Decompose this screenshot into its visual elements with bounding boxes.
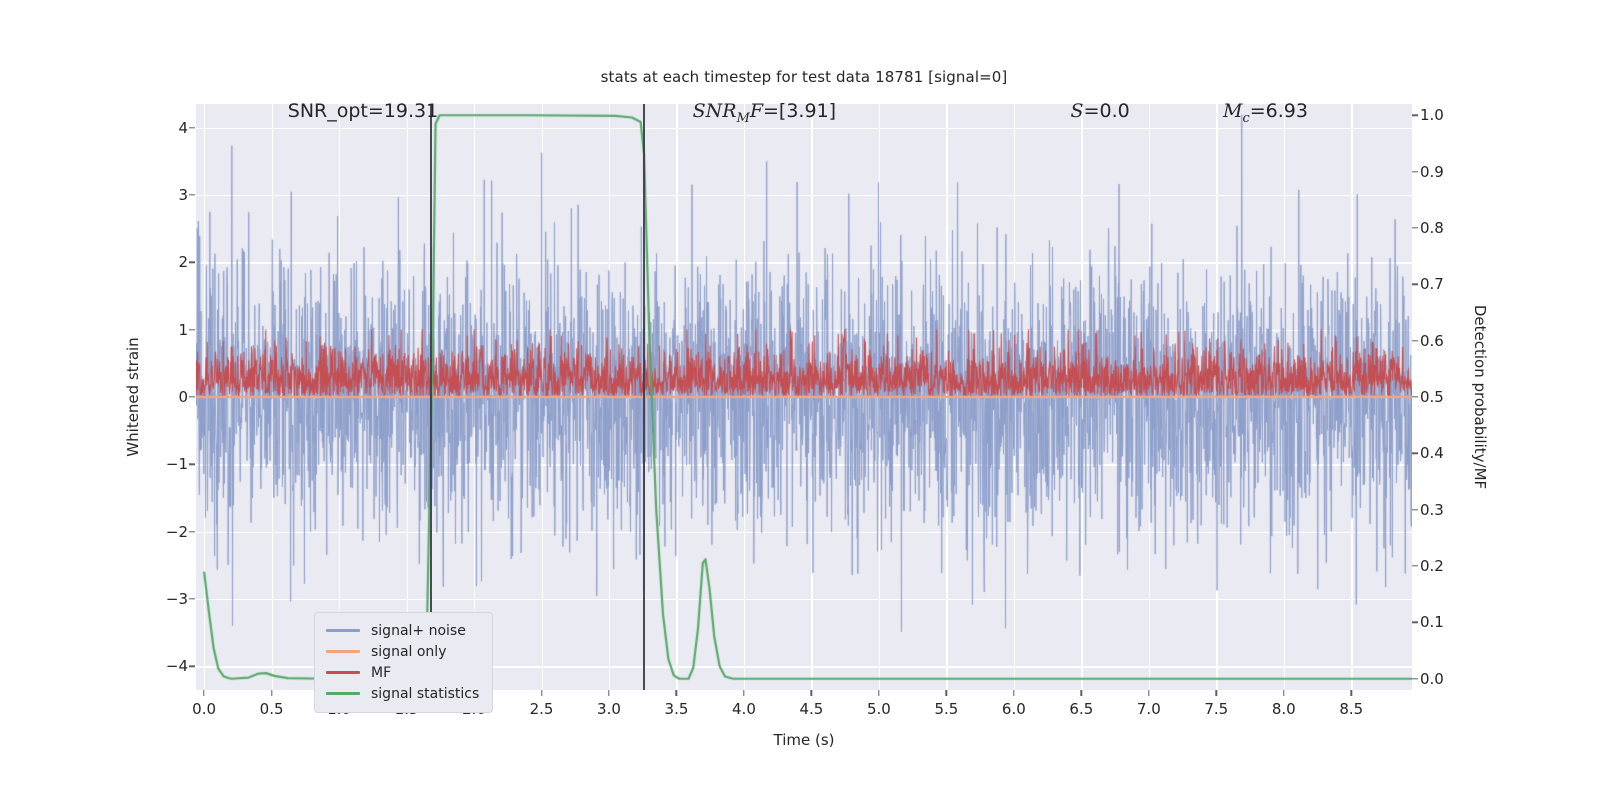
event-marker-line <box>430 104 432 690</box>
y-axis-label-right: Detection probability/MF <box>1471 305 1489 489</box>
x-tick-label: 0.0 <box>192 700 216 718</box>
legend-item[interactable]: signal+ noise <box>326 620 479 641</box>
annotation-mc-symbol: Mc <box>1223 100 1250 122</box>
x-tick-label: 7.5 <box>1204 700 1228 718</box>
legend[interactable]: signal+ noisesignal onlyMFsignal statist… <box>314 612 493 713</box>
annotation-mc: Mc=6.93 <box>1223 100 1308 126</box>
y-tick-mark-right <box>1412 396 1418 397</box>
y-tick-label-left: −3 <box>68 590 188 608</box>
legend-item-label: signal statistics <box>371 686 479 702</box>
x-tick-mark <box>946 690 947 696</box>
legend-item[interactable]: signal only <box>326 641 479 662</box>
y-tick-mark-left <box>189 531 195 532</box>
x-tick-mark <box>271 690 272 696</box>
x-tick-mark <box>1216 690 1217 696</box>
x-tick-mark <box>1283 690 1284 696</box>
y-tick-label-right: 0.0 <box>1420 670 1540 688</box>
legend-swatch-icon <box>326 671 360 673</box>
x-tick-label: 5.0 <box>867 700 891 718</box>
x-tick-mark <box>676 690 677 696</box>
x-axis-label: Time (s) <box>774 731 835 749</box>
x-tick-mark <box>1148 690 1149 696</box>
x-tick-label: 2.5 <box>530 700 554 718</box>
x-tick-label: 8.0 <box>1272 700 1296 718</box>
y-tick-label-right: 0.1 <box>1420 613 1540 631</box>
x-tick-label: 4.0 <box>732 700 756 718</box>
y-tick-label-left: 2 <box>68 253 188 271</box>
y-tick-mark-right <box>1412 171 1418 172</box>
y-tick-mark-right <box>1412 622 1418 623</box>
y-tick-mark-left <box>189 194 195 195</box>
x-tick-label: 6.5 <box>1069 700 1093 718</box>
series-signal-statistics <box>196 104 1412 690</box>
page-title: stats at each timestep for test data 187… <box>196 68 1412 86</box>
figure-canvas: stats at each timestep for test data 187… <box>0 0 1600 800</box>
legend-swatch-icon <box>326 692 360 694</box>
x-tick-label: 5.5 <box>934 700 958 718</box>
legend-swatch-icon <box>326 650 360 652</box>
y-tick-label-right: 0.9 <box>1420 163 1540 181</box>
annotation-snr-mf-value: =[3.91] <box>763 100 836 122</box>
x-tick-mark <box>743 690 744 696</box>
y-tick-mark-left <box>189 329 195 330</box>
y-tick-label-right: 1.0 <box>1420 106 1540 124</box>
y-tick-label-left: −1 <box>68 455 188 473</box>
legend-item[interactable]: MF <box>326 662 479 683</box>
x-tick-mark <box>1081 690 1082 696</box>
plot-area <box>196 104 1412 690</box>
legend-item-label: signal+ noise <box>371 623 466 639</box>
x-tick-mark <box>203 690 204 696</box>
x-tick-mark <box>608 690 609 696</box>
x-tick-mark <box>811 690 812 696</box>
y-tick-label-right: 0.7 <box>1420 275 1540 293</box>
annotation-snr-opt: SNR_opt=19.31 <box>288 100 438 122</box>
y-tick-mark-right <box>1412 509 1418 510</box>
y-tick-label-right: 0.2 <box>1420 557 1540 575</box>
x-tick-mark <box>1351 690 1352 696</box>
y-axis-label-left: Whitened strain <box>124 337 142 456</box>
x-tick-label: 8.5 <box>1339 700 1363 718</box>
y-tick-mark-left <box>189 464 195 465</box>
y-tick-mark-right <box>1412 284 1418 285</box>
annotation-mc-value: =6.93 <box>1250 100 1308 122</box>
legend-item-label: MF <box>371 665 391 681</box>
x-tick-label: 7.0 <box>1137 700 1161 718</box>
y-tick-label-left: 4 <box>68 119 188 137</box>
y-tick-mark-right <box>1412 340 1418 341</box>
x-tick-mark <box>1013 690 1014 696</box>
y-tick-mark-left <box>189 262 195 263</box>
y-tick-label-left: −4 <box>68 657 188 675</box>
legend-swatch-icon <box>326 629 360 631</box>
x-tick-label: 6.0 <box>1002 700 1026 718</box>
y-tick-label-right: 0.3 <box>1420 501 1540 519</box>
x-tick-label: 3.0 <box>597 700 621 718</box>
x-tick-label: 4.5 <box>799 700 823 718</box>
y-tick-label-left: 1 <box>68 321 188 339</box>
annotation-s: S=0.0 <box>1071 100 1130 122</box>
y-tick-mark-right <box>1412 227 1418 228</box>
y-tick-mark-right <box>1412 115 1418 116</box>
y-tick-mark-right <box>1412 678 1418 679</box>
y-tick-mark-right <box>1412 565 1418 566</box>
y-tick-label-left: 3 <box>68 186 188 204</box>
y-tick-mark-left <box>189 666 195 667</box>
legend-item-label: signal only <box>371 644 446 660</box>
legend-item[interactable]: signal statistics <box>326 683 479 704</box>
x-tick-label: 0.5 <box>260 700 284 718</box>
y-tick-label-right: 0.8 <box>1420 219 1540 237</box>
y-tick-mark-left <box>189 127 195 128</box>
x-tick-mark <box>878 690 879 696</box>
y-tick-mark-right <box>1412 453 1418 454</box>
y-tick-mark-left <box>189 598 195 599</box>
annotation-snr-mf: SNRMF=[3.91] <box>693 100 836 126</box>
event-marker-line <box>643 104 645 690</box>
y-tick-mark-left <box>189 396 195 397</box>
annotation-s-value: =0.0 <box>1084 100 1130 122</box>
annotation-snr-mf-symbol: SNRMF <box>693 100 763 122</box>
annotation-s-symbol: S <box>1071 100 1084 122</box>
x-tick-label: 3.5 <box>665 700 689 718</box>
x-tick-mark <box>541 690 542 696</box>
y-tick-label-left: −2 <box>68 523 188 541</box>
